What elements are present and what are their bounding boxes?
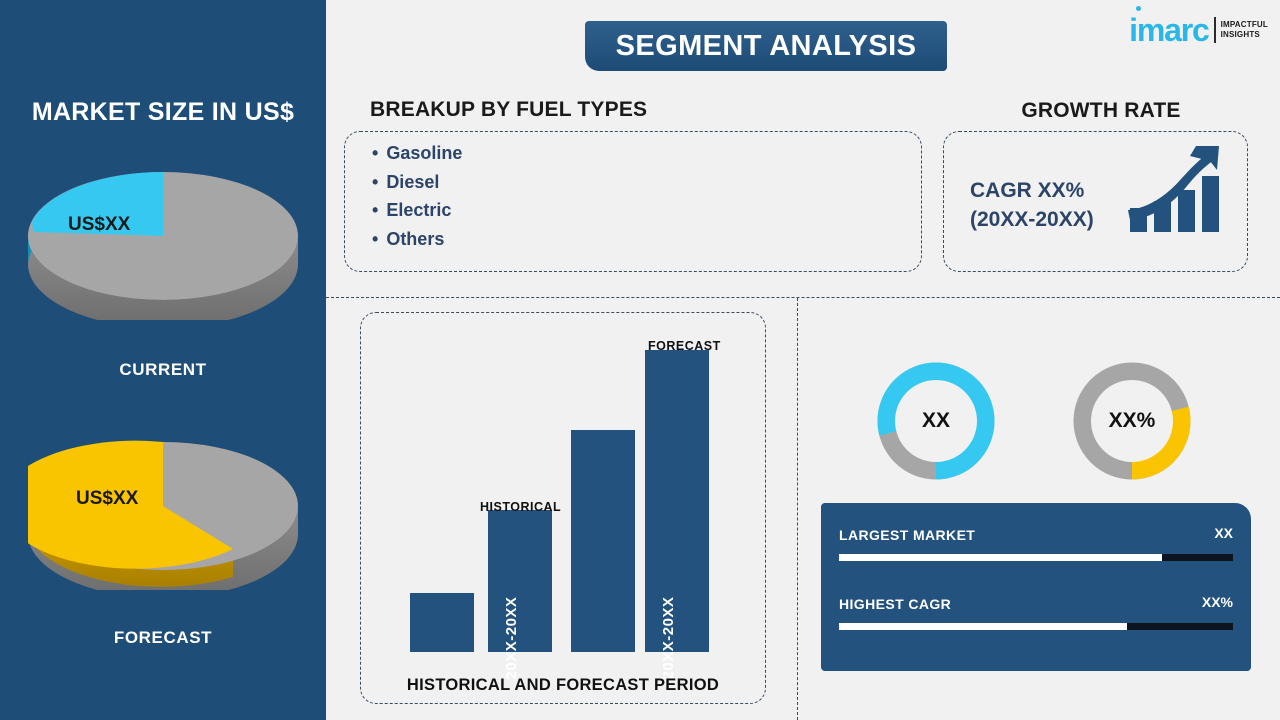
- page-title: SEGMENT ANALYSIS: [616, 30, 917, 63]
- sidebar-title: MARKET SIZE IN US$: [0, 98, 326, 127]
- historical-label-text: HISTORICAL: [480, 500, 561, 514]
- highest-cagr-progress-fill: [839, 623, 1127, 630]
- donut-chart-1: XX: [877, 362, 995, 480]
- donut-2-center: XX%: [1091, 380, 1173, 462]
- bar-2: 20XX-20XX: [488, 510, 552, 652]
- largest-market-progress-track: [839, 554, 1233, 561]
- list-item: Diesel: [372, 168, 462, 197]
- donut-2-value: XX%: [1109, 409, 1156, 433]
- infographic-canvas: MARKET SIZE IN US$: [0, 0, 1280, 720]
- highest-cagr-label: HIGHEST CAGR: [839, 596, 951, 612]
- cagr-value: CAGR XX%: [970, 176, 1094, 205]
- highest-cagr-progress-track: [839, 623, 1233, 630]
- page-title-banner: SEGMENT ANALYSIS: [585, 21, 947, 71]
- metric-row-highest-cagr: HIGHEST CAGR XX%: [839, 596, 1233, 630]
- list-item: Others: [372, 225, 462, 254]
- metrics-panel: LARGEST MARKET XX HIGHEST CAGR XX%: [821, 503, 1251, 671]
- largest-market-label: LARGEST MARKET: [839, 527, 975, 543]
- logo-dot-icon: [1136, 6, 1141, 11]
- logo-divider: [1214, 17, 1216, 43]
- growth-rate-heading: GROWTH RATE: [940, 99, 1262, 123]
- logo-wordmark: imarc: [1129, 14, 1208, 46]
- logo-tagline-line2: INSIGHTS: [1221, 30, 1260, 39]
- pie-forecast-value: US$XX: [76, 488, 138, 510]
- pie-current-value: US$XX: [68, 214, 130, 236]
- pie-current-caption: CURRENT: [0, 360, 326, 380]
- pie-forecast-caption: FORECAST: [0, 628, 326, 648]
- pie-forecast-svg: [28, 430, 298, 590]
- cagr-period: (20XX-20XX): [970, 205, 1094, 234]
- largest-market-value: XX: [1214, 525, 1233, 541]
- list-item: Gasoline: [372, 139, 462, 168]
- bar-3: [571, 430, 635, 652]
- pie-current-svg: [28, 160, 298, 320]
- logo-wordmark-text: imarc: [1129, 12, 1208, 48]
- growth-bar-arrow-icon: [1124, 144, 1224, 241]
- highest-cagr-value: XX%: [1202, 594, 1233, 610]
- bar-chart-caption: HISTORICAL AND FORECAST PERIOD: [360, 676, 766, 695]
- horizontal-divider: [326, 297, 1280, 298]
- pie-chart-current: US$XX: [0, 160, 326, 320]
- forecast-label-text: FORECAST: [648, 339, 721, 353]
- donut-chart-2: XX%: [1073, 362, 1191, 480]
- donut-1-value: XX: [922, 409, 950, 433]
- historical-label: HISTORICAL: [480, 500, 561, 514]
- cagr-text: CAGR XX% (20XX-20XX): [970, 176, 1094, 234]
- bar-chart: 20XX-20XX HISTORICAL 20XX-20XX FORECAST: [360, 312, 766, 704]
- bar-4-label: 20XX-20XX: [660, 597, 677, 680]
- pie-chart-forecast: US$XX: [0, 430, 326, 590]
- metric-row-largest-market: LARGEST MARKET XX: [839, 527, 1233, 561]
- fuel-types-heading: BREAKUP BY FUEL TYPES: [370, 98, 647, 122]
- bar-1: [410, 593, 474, 652]
- list-item: Electric: [372, 196, 462, 225]
- vertical-divider: [797, 298, 798, 720]
- sidebar: MARKET SIZE IN US$: [0, 0, 326, 720]
- fuel-types-list: Gasoline Diesel Electric Others: [372, 139, 462, 253]
- largest-market-progress-fill: [839, 554, 1162, 561]
- logo-tagline: IMPACTFUL INSIGHTS: [1221, 20, 1268, 40]
- imarc-logo: imarc IMPACTFUL INSIGHTS: [1129, 14, 1268, 46]
- logo-tagline-line1: IMPACTFUL: [1221, 20, 1268, 29]
- bar-4: 20XX-20XX: [645, 350, 709, 652]
- donut-1-center: XX: [895, 380, 977, 462]
- forecast-label: FORECAST: [648, 339, 721, 353]
- bar-2-label: 20XX-20XX: [503, 597, 520, 680]
